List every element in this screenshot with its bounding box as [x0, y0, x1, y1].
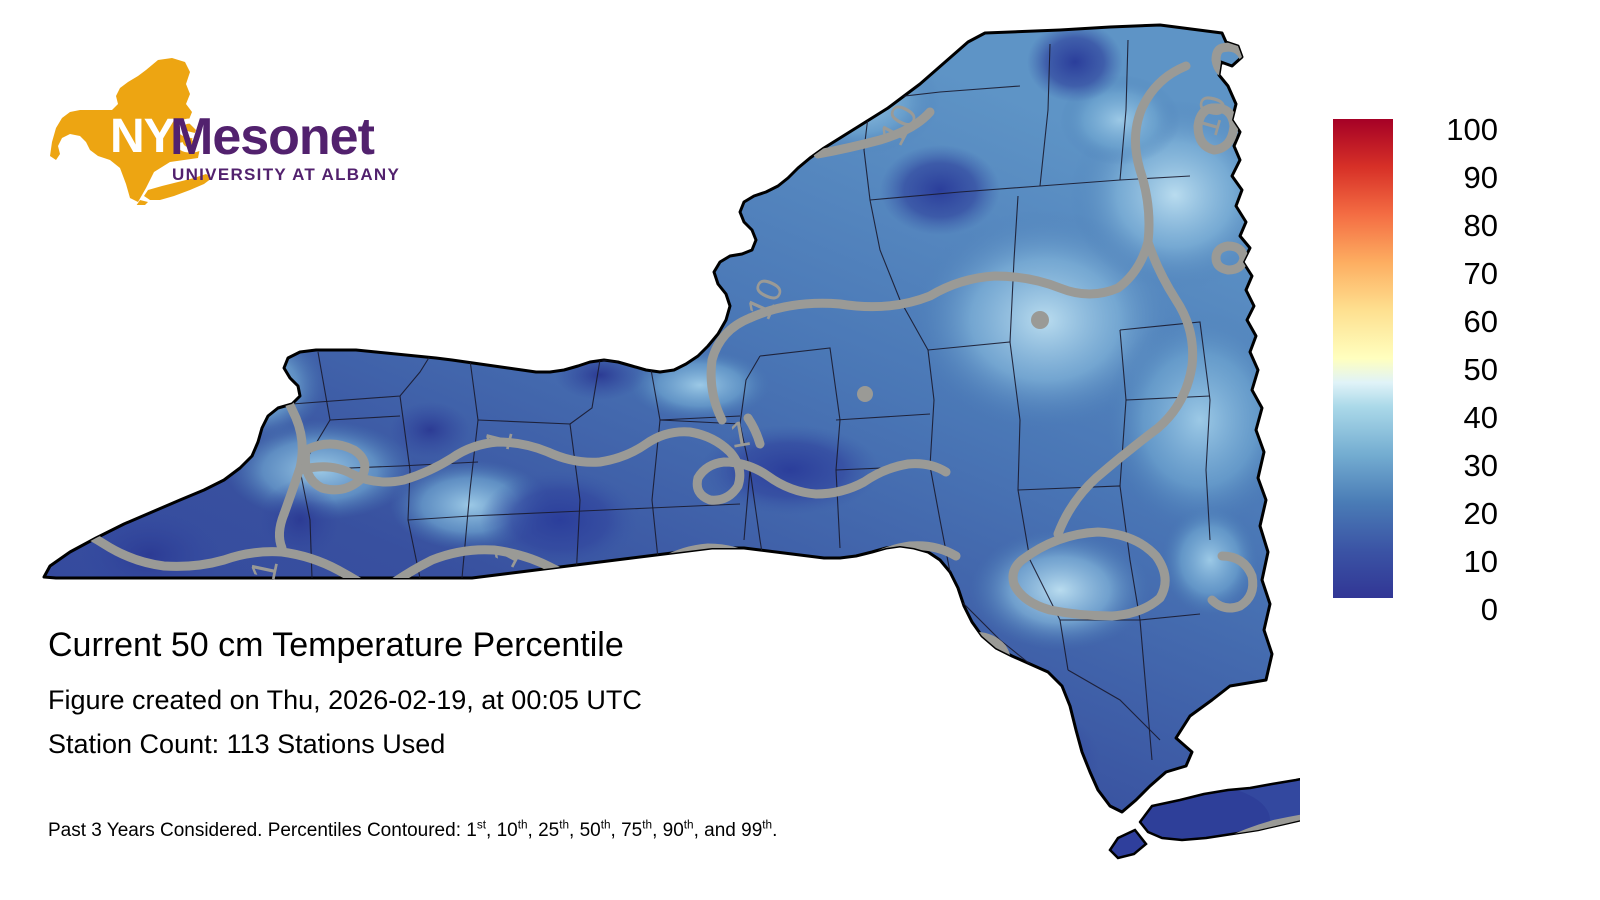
footnote-ordinal-suffix: th: [642, 819, 652, 832]
figure-created-timestamp: Figure created on Thu, 2026-02-19, at 00…: [48, 678, 1048, 722]
footnote-percentile: 10th: [497, 820, 528, 841]
footnote-ordinal-suffix: th: [762, 819, 772, 832]
colorbar-tick: 30: [1403, 450, 1498, 481]
footnote-ordinal-suffix: th: [518, 819, 528, 832]
colorbar-tick: 50: [1403, 354, 1498, 385]
percentile-footnote: Past 3 Years Considered. Percentiles Con…: [48, 818, 777, 844]
colorbar-tick: 80: [1403, 210, 1498, 241]
footnote-ordinal-suffix: th: [559, 819, 569, 832]
figure-caption-block: Current 50 cm Temperature Percentile Fig…: [48, 622, 1048, 766]
colorbar: [1333, 119, 1393, 598]
footnote-ordinal-suffix: th: [684, 819, 694, 832]
page-title: Current 50 cm Temperature Percentile: [48, 622, 1048, 668]
footnote-percentile-list: 1st, 10th, 25th, 50th, 75th, 90th, and 9…: [466, 820, 777, 841]
colorbar-tick: 60: [1403, 306, 1498, 337]
colorbar-tick: 40: [1403, 402, 1498, 433]
colorbar-tick: 20: [1403, 498, 1498, 529]
logo-tagline: UNIVERSITY AT ALBANY: [172, 165, 400, 184]
colorbar-tick: 0: [1403, 594, 1498, 625]
colorbar-tick-labels: 100 90 80 70 60 50 40 30 20 10 0: [1403, 100, 1498, 620]
colorbar-tick: 90: [1403, 162, 1498, 193]
footnote-prefix: Past 3 Years Considered. Percentiles Con…: [48, 820, 466, 841]
station-count-label: Station Count: 113 Stations Used: [48, 722, 1048, 766]
nys-mesonet-logo: NYS Mesonet UNIVERSITY AT ALBANY: [50, 50, 400, 205]
colorbar-tick: 100: [1403, 114, 1498, 145]
colorbar-tick: 10: [1403, 546, 1498, 577]
colorbar-gradient: [1333, 119, 1393, 598]
footnote-percentile: 50th: [580, 820, 611, 841]
logo-svg: NYS Mesonet UNIVERSITY AT ALBANY: [50, 50, 400, 205]
logo-secondary-text: Mesonet: [170, 108, 375, 166]
footnote-percentile: 90th: [663, 820, 694, 841]
footnote-percentile: 75th: [621, 820, 652, 841]
footnote-percentile: 25th: [538, 820, 569, 841]
footnote-ordinal-suffix: th: [601, 819, 611, 832]
footnote-percentile: 1st: [466, 820, 486, 841]
footnote-percentile: 99th: [741, 820, 772, 841]
footnote-ordinal-suffix: st: [477, 819, 486, 832]
colorbar-tick: 70: [1403, 258, 1498, 289]
